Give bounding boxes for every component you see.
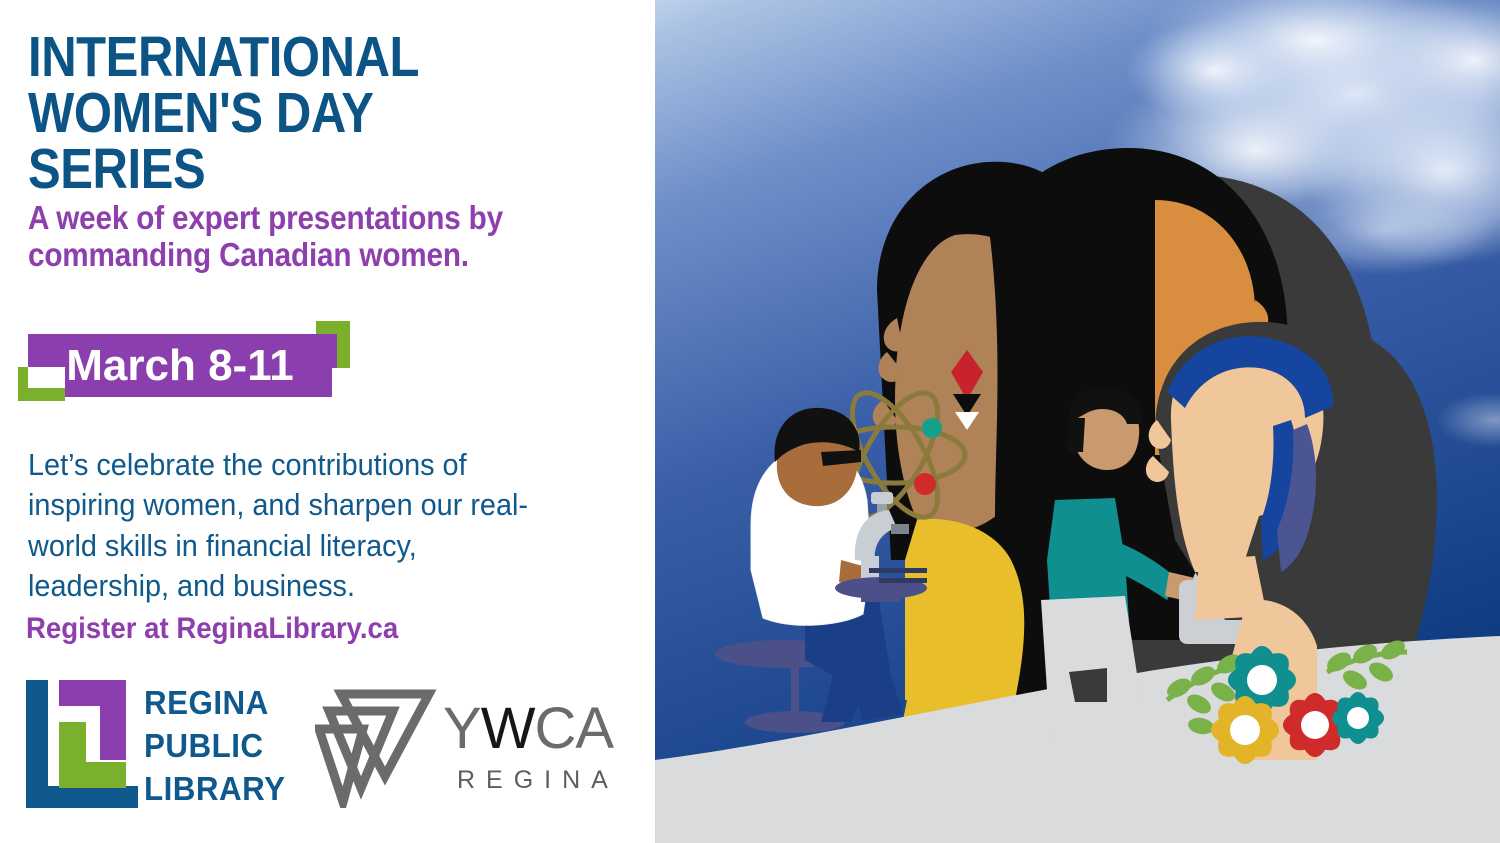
- rpl-logo-mark-icon: [26, 680, 138, 808]
- poster: INTERNATIONAL WOMEN'S DAY SERIES A week …: [0, 0, 1500, 843]
- ywca-regina-logo: YWCA REGINA: [315, 684, 645, 810]
- page-title: INTERNATIONAL WOMEN'S DAY SERIES: [28, 30, 544, 198]
- rpl-logo-wordmark: REGINA PUBLIC LIBRARY: [144, 682, 306, 811]
- ywca-letter-w: W: [481, 696, 535, 761]
- illustration-panel: [655, 0, 1500, 843]
- date-badge-label: March 8-11: [28, 334, 332, 397]
- regina-public-library-logo: REGINA PUBLIC LIBRARY: [26, 680, 296, 810]
- ywca-sublabel: REGINA: [457, 766, 619, 795]
- atom-electron-teal: [922, 418, 942, 438]
- subtitle: A week of expert presentations by comman…: [28, 200, 604, 274]
- ywca-letters-ca: CA: [534, 696, 613, 761]
- date-badge: March 8-11: [18, 318, 358, 418]
- ywca-wordmark: YWCA: [443, 700, 613, 758]
- body-text: Let’s celebrate the contributions of ins…: [28, 445, 586, 606]
- ywca-letter-y: Y: [443, 696, 481, 761]
- register-line[interactable]: Register at ReginaLibrary.ca: [26, 612, 578, 645]
- illustration: [655, 0, 1500, 843]
- text-panel: INTERNATIONAL WOMEN'S DAY SERIES A week …: [0, 0, 655, 843]
- ywca-triangles-icon: [315, 684, 437, 808]
- atom-electron-red: [914, 473, 936, 495]
